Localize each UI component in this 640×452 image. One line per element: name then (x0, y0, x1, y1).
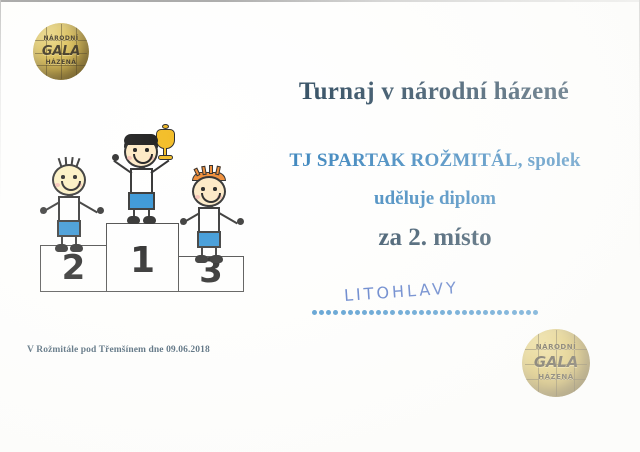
kid-rank-1 (111, 120, 177, 225)
certificate-title: Turnaj v národní házené (264, 78, 604, 106)
certificate-awards-line: uděluje diplom (250, 188, 620, 210)
kid-rank-3 (184, 170, 242, 258)
shorts (197, 231, 221, 248)
certificate-date-line: V Rožmitále pod Třemšínem dne 09.06.2018 (27, 345, 210, 355)
ball-bottom-line-top: Národní (522, 343, 590, 351)
ball-top-line-top: Národní (33, 35, 89, 42)
torso-shirt (198, 207, 220, 233)
scan-edge-top (0, 0, 640, 2)
kid-rank-2 (46, 160, 104, 248)
ball-top-brand: gala (33, 44, 89, 59)
head (52, 164, 86, 196)
podium-illustration: 2 1 3 (36, 120, 248, 292)
ball-bottom-brand: gala (522, 353, 590, 371)
recipient-dotted-line (312, 308, 538, 317)
shorts (57, 220, 81, 237)
certificate-placement: za 2. místo (250, 224, 620, 252)
handball-ball-logo-bottom: Národní gala Házená (522, 329, 590, 397)
podium-number-1: 1 (106, 243, 179, 279)
shorts (128, 192, 155, 210)
ball-bottom-line-bottom: Házená (522, 373, 590, 381)
handball-ball-logo-top: Národní gala Házená (33, 23, 89, 80)
podium-number-2: 2 (40, 251, 107, 285)
recipient-handwritten-name: LITOHLAVY (343, 278, 459, 305)
ball-top-line-bottom: Házená (33, 59, 89, 66)
torso-shirt (58, 196, 80, 222)
certificate-organization: TJ SPARTAK ROŽMITÁL, spolek (250, 150, 620, 172)
scan-edge-left (0, 0, 1, 452)
